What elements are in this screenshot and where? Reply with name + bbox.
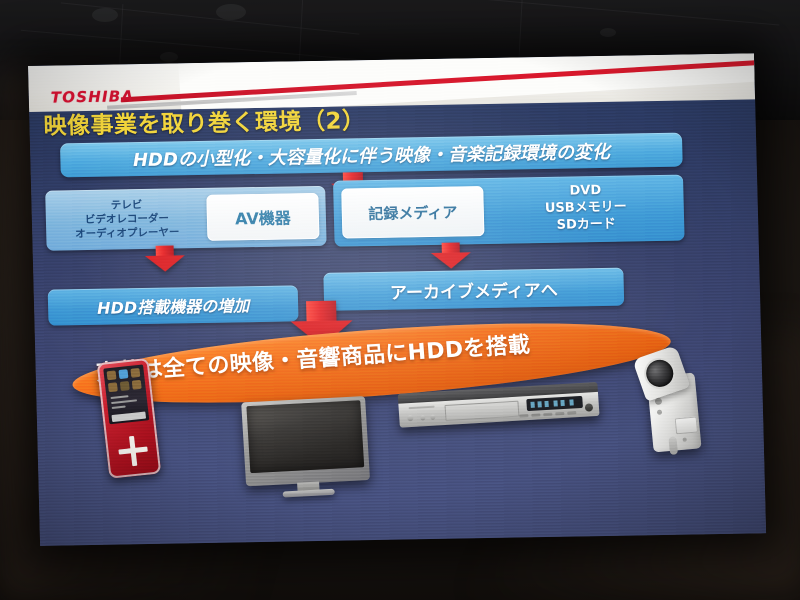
player-screen <box>103 364 149 424</box>
recorder-button <box>407 415 413 421</box>
ceiling-fixture <box>92 8 118 22</box>
outcome-box-archive-media: アーカイブメディアへ <box>323 268 624 311</box>
tv-screen <box>246 400 364 473</box>
av-equipment-items: テレビ ビデオレコーダー オーディオプレーヤー <box>51 197 202 242</box>
outcome-box-hdd-growth: HDD搭載機器の増加 <box>48 285 299 325</box>
recorder-button <box>420 415 425 420</box>
ceiling-fixture <box>600 28 616 37</box>
ceiling-line <box>401 0 780 26</box>
product-camcorder <box>629 338 707 455</box>
ceiling-fixture <box>160 52 178 62</box>
recording-media-items: DVD USBメモリー SDカード <box>495 181 676 235</box>
toshiba-logo: TOSHIBA <box>51 87 135 106</box>
tv-stand-base <box>283 489 335 498</box>
recording-media-chip-label: 記録メディア <box>368 201 457 224</box>
ceiling-fixture <box>216 4 246 20</box>
down-arrow-icon <box>431 242 472 269</box>
av-equipment-chip-label: AV機器 <box>235 204 291 229</box>
product-flat-panel-tv <box>241 396 370 486</box>
recorder-control <box>519 414 528 418</box>
av-equipment-chip: AV機器 <box>206 193 319 241</box>
ceiling-line <box>518 0 522 60</box>
category-box-av-equipment: テレビ ビデオレコーダー オーディオプレーヤー AV機器 <box>45 186 326 251</box>
recorder-control <box>543 413 552 417</box>
recorder-control <box>531 413 540 417</box>
recorder-logo <box>409 406 435 410</box>
headline-banner: HDDの小型化・大容量化に伴う映像・音楽記録環境の変化 <box>60 133 683 178</box>
camcorder-lcd-panel <box>675 417 698 435</box>
recording-media-chip: 記録メディア <box>341 186 484 238</box>
camcorder-lens <box>643 356 677 390</box>
recorder-disc-tray <box>445 401 520 421</box>
down-arrow-icon <box>145 245 186 272</box>
camcorder-button <box>657 410 662 415</box>
recorder-button <box>430 415 435 420</box>
recorder-jog-dial <box>585 403 594 411</box>
presentation-slide: TOSHIBA 映像事業を取り巻く環境（2） HDDの小型化・大容量化に伴う映像… <box>28 53 766 546</box>
camcorder-button <box>683 437 687 441</box>
recorder-display <box>526 396 583 411</box>
recorder-control <box>555 412 564 416</box>
camcorder-grip <box>668 436 678 455</box>
category-box-recording-media: 記録メディア DVD USBメモリー SDカード <box>333 175 685 247</box>
projection-screen: TOSHIBA 映像事業を取り巻く環境（2） HDDの小型化・大容量化に伴う映像… <box>28 53 766 546</box>
recorder-control <box>567 411 576 415</box>
